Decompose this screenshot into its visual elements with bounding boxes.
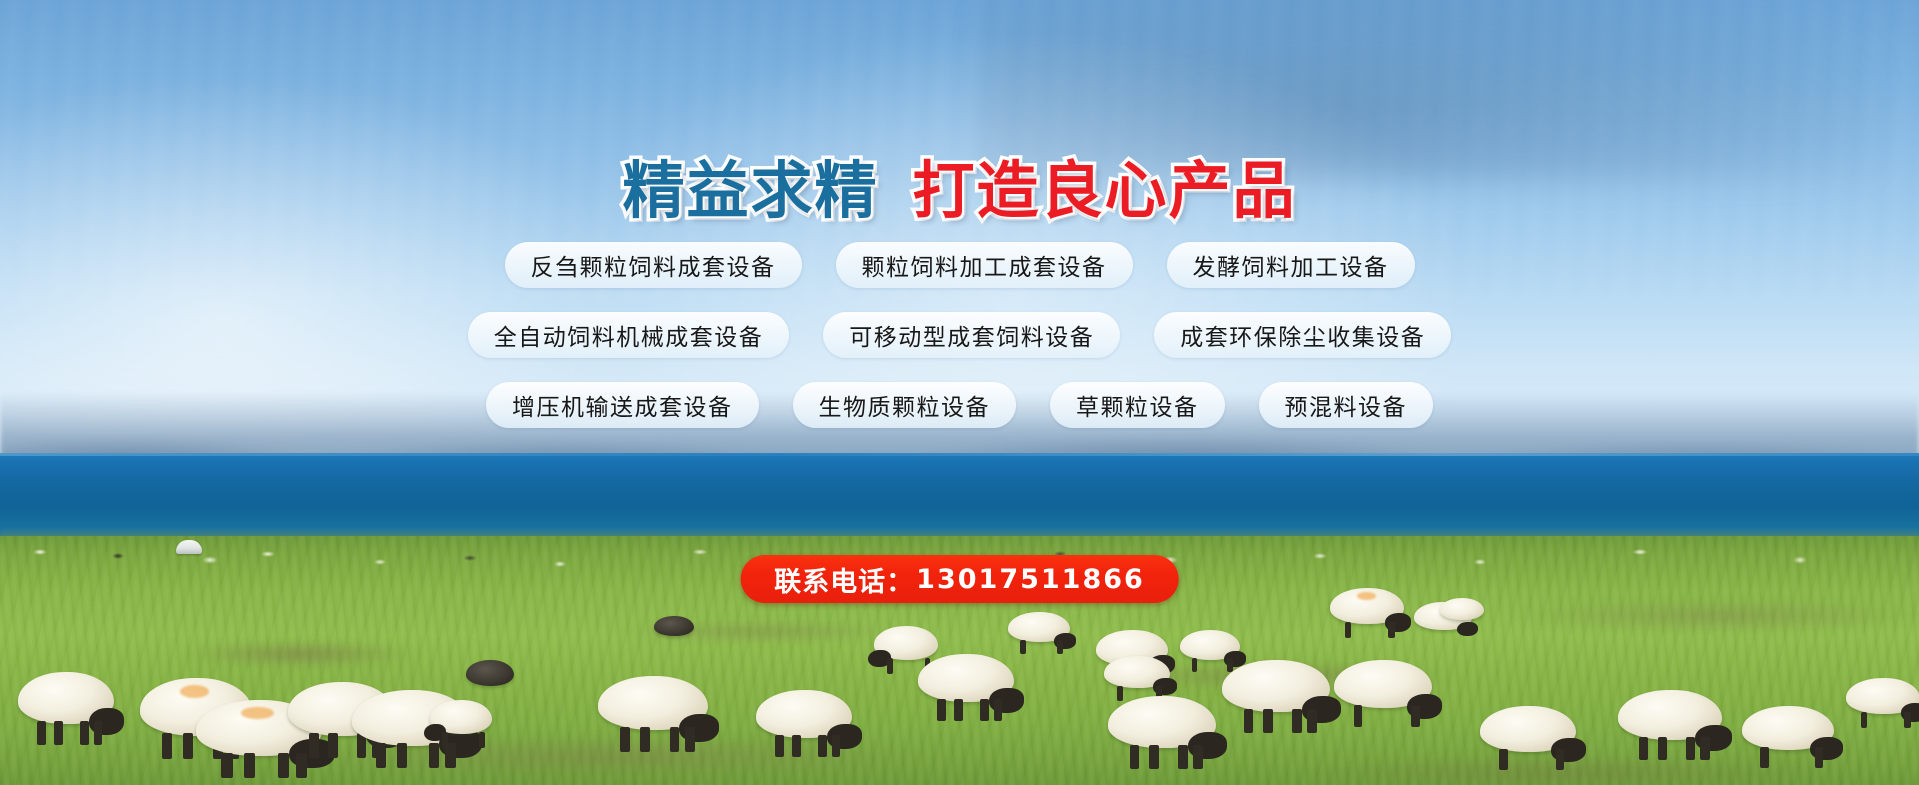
sheep [874, 626, 938, 660]
promotional-banner: 精益求精打造良心产品 反刍颗粒饲料成套设备 颗粒饲料加工成套设备 发酵饲料加工设… [0, 0, 1919, 785]
product-pill[interactable]: 颗粒饲料加工成套设备 [836, 242, 1133, 288]
product-pill[interactable]: 草颗粒设备 [1050, 382, 1225, 428]
yurt-tent [176, 540, 202, 554]
contact-number: 13017511866 [916, 564, 1145, 595]
product-categories: 反刍颗粒饲料成套设备 颗粒饲料加工成套设备 发酵饲料加工设备 全自动饲料机械成套… [0, 242, 1919, 452]
product-pill[interactable]: 预混料设备 [1259, 382, 1434, 428]
product-pill[interactable]: 可移动型成套饲料设备 [823, 312, 1120, 358]
headline: 精益求精打造良心产品 [0, 160, 1919, 222]
product-pill[interactable]: 全自动饲料机械成套设备 [468, 312, 790, 358]
headline-secondary: 打造良心产品 [913, 160, 1297, 222]
product-row-3: 增压机输送成套设备 生物质颗粒设备 草颗粒设备 预混料设备 [0, 382, 1919, 428]
sheep [1180, 630, 1240, 660]
sheep [756, 690, 852, 738]
sheep [1330, 588, 1404, 624]
lake-water [0, 453, 1919, 540]
sheep [918, 654, 1014, 702]
sheep [1742, 706, 1834, 750]
sheep [1480, 706, 1576, 752]
sheep [1618, 690, 1722, 740]
product-row-2: 全自动饲料机械成套设备 可移动型成套饲料设备 成套环保除尘收集设备 [0, 312, 1919, 358]
contact-phone-bar[interactable]: 联系电话：13017511866 [740, 555, 1179, 603]
product-row-1: 反刍颗粒饲料成套设备 颗粒饲料加工成套设备 发酵饲料加工设备 [0, 242, 1919, 288]
sheep [654, 616, 694, 636]
product-pill[interactable]: 反刍颗粒饲料成套设备 [505, 242, 802, 288]
product-pill[interactable]: 发酵饲料加工设备 [1167, 242, 1415, 288]
sheep [1108, 696, 1216, 748]
sheep [1222, 660, 1330, 712]
contact-label: 联系电话： [774, 560, 914, 599]
sheep [1008, 612, 1070, 642]
headline-primary: 精益求精 [622, 160, 878, 222]
sheep [18, 672, 114, 724]
sheep [1104, 656, 1170, 688]
sheep [1334, 660, 1432, 708]
sheep [466, 660, 514, 686]
product-pill[interactable]: 增压机输送成套设备 [486, 382, 759, 428]
product-pill[interactable]: 成套环保除尘收集设备 [1154, 312, 1451, 358]
sheep [430, 700, 492, 734]
sheep [598, 676, 708, 730]
sheep [1440, 598, 1484, 620]
sheep [1846, 678, 1919, 714]
product-pill[interactable]: 生物质颗粒设备 [793, 382, 1017, 428]
